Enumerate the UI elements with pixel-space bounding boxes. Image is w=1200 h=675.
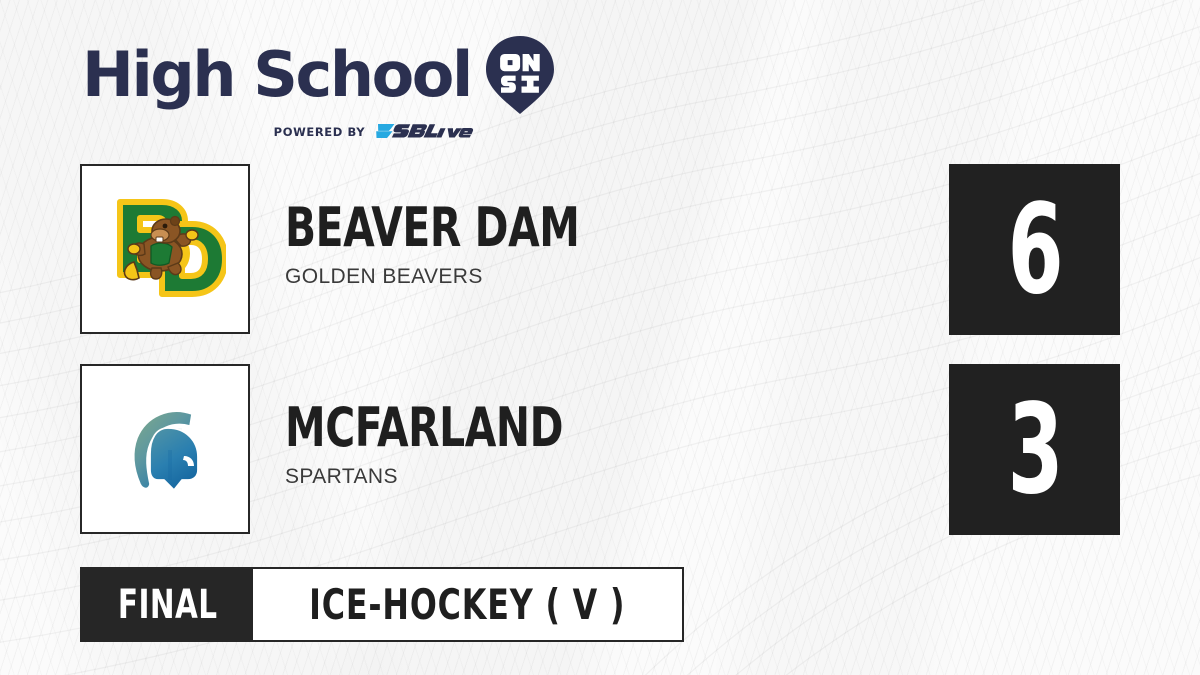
status-state-label: FINAL	[118, 585, 218, 625]
team-name-1: BEAVER DAM	[285, 200, 579, 256]
scoreboard-graphic: High School POWERED BY	[0, 0, 1200, 675]
powered-by-label: POWERED BY	[274, 125, 365, 139]
score-box-1: 6	[949, 164, 1120, 335]
status-sport-panel: ICE-HOCKEY ( V )	[253, 569, 681, 640]
status-state-badge: FINAL	[82, 569, 253, 640]
brand-logo-row: High School	[82, 34, 556, 116]
beaver-dam-bd-monogram-logo	[104, 188, 226, 310]
team-mascot-1: GOLDEN BEAVERS	[285, 265, 636, 289]
mcfarland-spartan-helmet-logo	[110, 394, 220, 504]
score-value-2: 3	[1007, 388, 1061, 512]
powered-by-row: POWERED BY	[82, 121, 556, 143]
sblive-logo-icon	[374, 121, 476, 143]
team-info-1: BEAVER DAM GOLDEN BEAVERS	[285, 200, 636, 289]
team-logo-box-1	[80, 164, 250, 334]
on-si-pin-icon	[484, 34, 556, 116]
team-logo-box-2	[80, 364, 250, 534]
game-status-bar: FINAL ICE-HOCKEY ( V )	[80, 567, 684, 642]
score-value-1: 6	[1007, 188, 1061, 312]
status-sport-label: ICE-HOCKEY ( V )	[309, 584, 625, 626]
score-box-2: 3	[949, 364, 1120, 535]
team-info-2: MCFARLAND SPARTANS	[285, 400, 616, 489]
brand-header: High School POWERED BY	[82, 34, 556, 143]
team-name-2: MCFARLAND	[285, 400, 563, 456]
team-mascot-2: SPARTANS	[285, 465, 616, 489]
brand-title: High School	[82, 44, 471, 106]
